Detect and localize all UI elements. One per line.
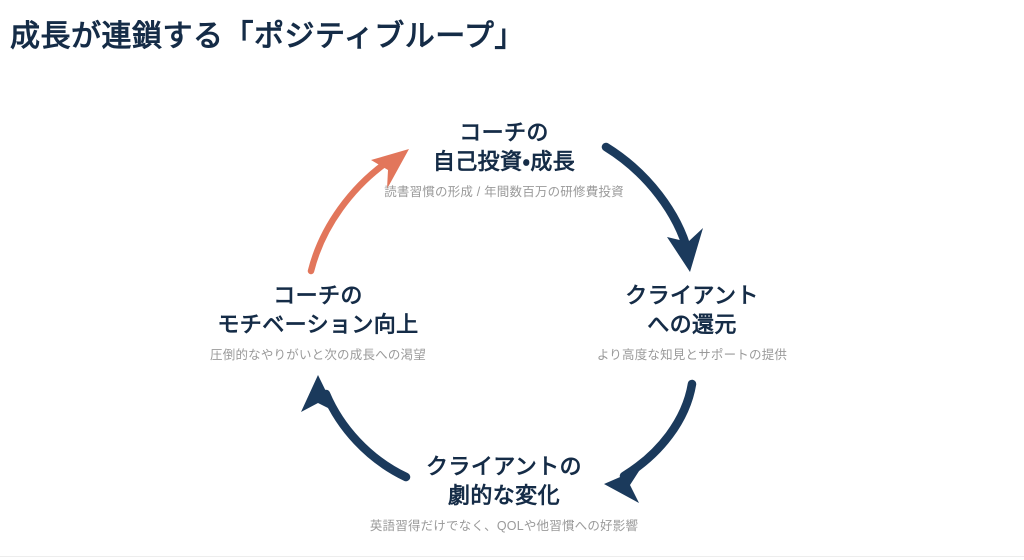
cycle-node-subtitle: より高度な知見とサポートの提供 [512, 347, 872, 364]
positive-loop-cycle-diagram: コーチの 自己投資・成長 読書習慣の形成 / 年間数百万の研修費投資 クライアン… [0, 0, 1024, 560]
cycle-node-subtitle: 英語習得だけでなく、QOLや他習慣への好影響 [324, 518, 684, 535]
footer-divider [0, 556, 1024, 557]
cycle-node-subtitle: 読書習慣の形成 / 年間数百万の研修費投資 [324, 184, 684, 201]
cycle-node-title: クライアント への還元 [512, 281, 872, 340]
cycle-node-title: コーチの 自己投資・成長 [324, 118, 684, 177]
cycle-node-title: コーチの モチベーション向上 [138, 281, 498, 340]
slide-canvas: 成長が連鎖する「ポジティブループ」 [0, 0, 1024, 560]
cycle-node-client-change: クライアントの 劇的な変化 英語習得だけでなく、QOLや他習慣への好影響 [324, 452, 684, 535]
cycle-node-subtitle: 圧倒的なやりがいと次の成長への渇望 [138, 347, 498, 364]
cycle-node-coach-motivation: コーチの モチベーション向上 圧倒的なやりがいと次の成長への渇望 [138, 281, 498, 364]
cycle-node-title: クライアントの 劇的な変化 [324, 452, 684, 511]
cycle-node-client-return: クライアント への還元 より高度な知見とサポートの提供 [512, 281, 872, 364]
cycle-node-coach-investment: コーチの 自己投資・成長 読書習慣の形成 / 年間数百万の研修費投資 [324, 118, 684, 201]
